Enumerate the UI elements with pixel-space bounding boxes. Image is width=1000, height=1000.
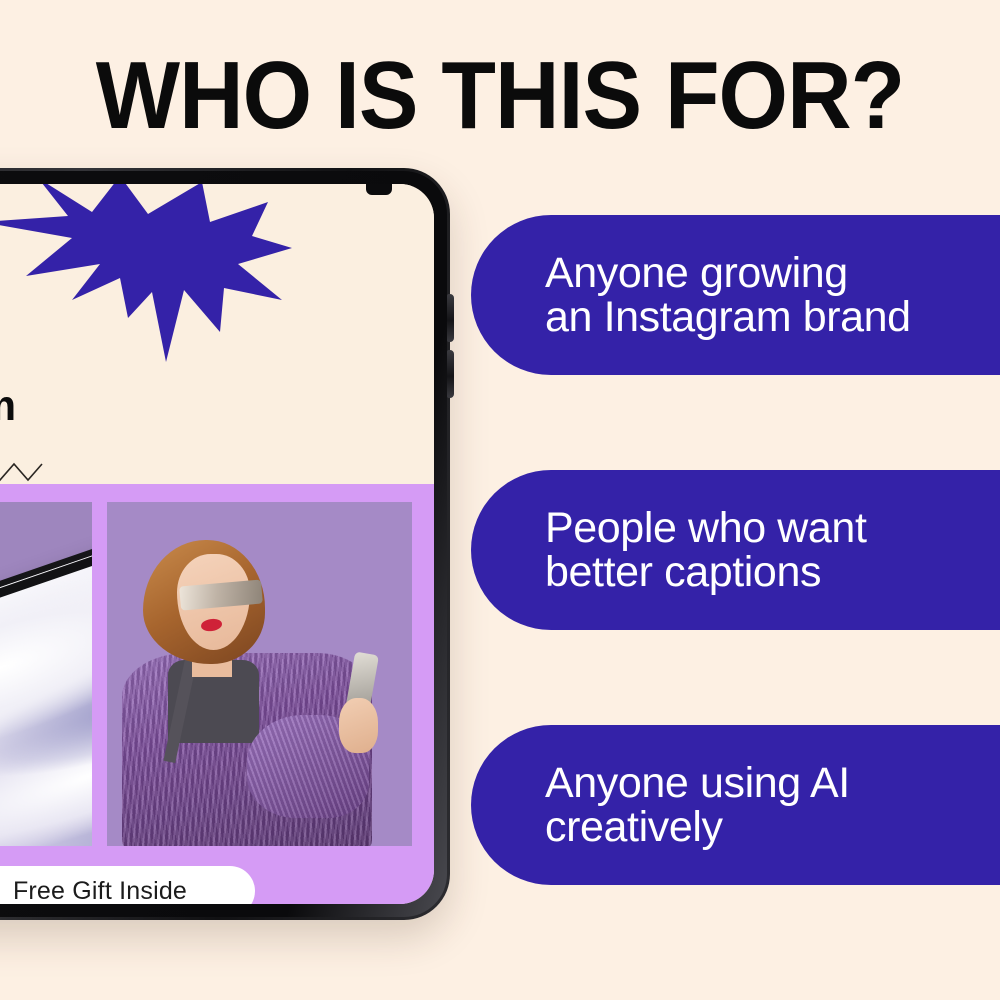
bullet-3-line-1: Anyone using AI: [545, 761, 1000, 805]
panel-marble-phone: [0, 502, 92, 846]
post-headline-line-2: ng ai to transform: [0, 383, 311, 430]
bullet-1-line-1: Anyone growing: [545, 251, 1000, 295]
bullet-list: Anyone growing an Instagram brand People…: [471, 0, 1000, 1000]
camera-nub-icon: [366, 184, 392, 195]
post-image-panels: [0, 502, 412, 846]
zigzag-underline-icon: [0, 462, 182, 484]
device-body: ption magic: ng ai to transform ur insta…: [0, 168, 450, 920]
woman-hand: [339, 698, 379, 753]
volume-up-button[interactable]: [447, 294, 454, 342]
bullet-2-line-2: better captions: [545, 550, 1000, 594]
device-rim: ption magic: ng ai to transform ur insta…: [0, 171, 447, 917]
bullet-pill-ai-creative[interactable]: Anyone using AI creatively: [471, 725, 1000, 885]
post-headline: ption magic: ng ai to transform ur insta…: [0, 336, 311, 477]
bullet-1-line-2: an Instagram brand: [545, 295, 1000, 339]
slide-canvas: WHO IS THIS FOR?: [0, 0, 1000, 1000]
bullet-2-line-1: People who want: [545, 506, 1000, 550]
bullet-pill-growing-brand[interactable]: Anyone growing an Instagram brand: [471, 215, 1000, 375]
panel-woman-photo: [107, 502, 413, 846]
post-bottom-section: Free Gift Inside: [0, 484, 434, 904]
bullet-pill-better-captions[interactable]: People who want better captions: [471, 470, 1000, 630]
bullet-3-line-2: creatively: [545, 805, 1000, 849]
volume-down-button[interactable]: [447, 350, 454, 398]
free-gift-button[interactable]: Free Gift Inside: [0, 866, 255, 904]
post-top-section: ption magic: ng ai to transform ur insta…: [0, 184, 434, 484]
post-headline-line-1: ption magic:: [0, 336, 311, 383]
tablet-mockup: ption magic: ng ai to transform ur insta…: [0, 168, 450, 920]
device-screen: ption magic: ng ai to transform ur insta…: [0, 184, 434, 904]
